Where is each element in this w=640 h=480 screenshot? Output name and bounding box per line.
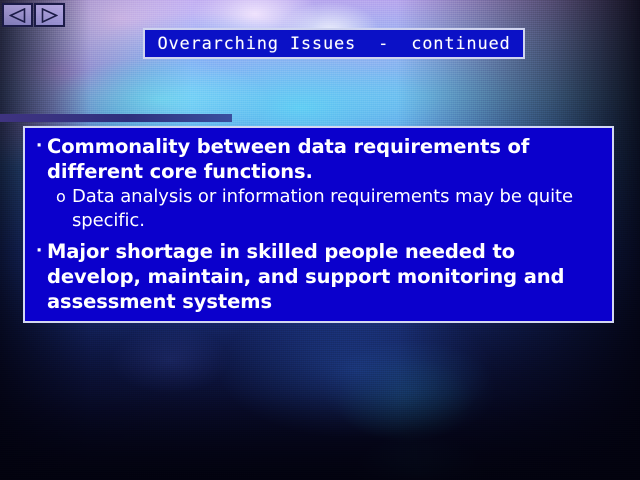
slide-navigation-controls — [2, 3, 65, 27]
bullet-item: · Major shortage in skilled people neede… — [31, 239, 604, 314]
sub-bullet-text: Data analysis or information requirement… — [72, 185, 604, 233]
slide-title-banner: Overarching Issues - continued — [143, 28, 525, 59]
triangle-right-icon — [41, 8, 58, 23]
bullet-marker: · — [31, 239, 47, 264]
sub-bullet-list: o Data analysis or information requireme… — [31, 185, 604, 233]
slide-content-box: · Commonality between data requirements … — [23, 126, 614, 323]
previous-slide-button[interactable] — [2, 3, 33, 27]
bullet-marker: · — [31, 134, 47, 159]
sub-bullet-item: o Data analysis or information requireme… — [31, 185, 604, 233]
sub-bullet-marker: o — [56, 185, 72, 209]
next-slide-button[interactable] — [34, 3, 65, 27]
title-accent-rule — [0, 114, 232, 122]
presentation-slide: Overarching Issues - continued · Commona… — [0, 0, 640, 480]
triangle-left-icon — [9, 8, 26, 23]
slide-title: Overarching Issues - continued — [157, 34, 510, 54]
bullet-text: Major shortage in skilled people needed … — [47, 239, 604, 314]
bullet-text: Commonality between data requirements of… — [47, 134, 604, 184]
bullet-item: · Commonality between data requirements … — [31, 134, 604, 184]
